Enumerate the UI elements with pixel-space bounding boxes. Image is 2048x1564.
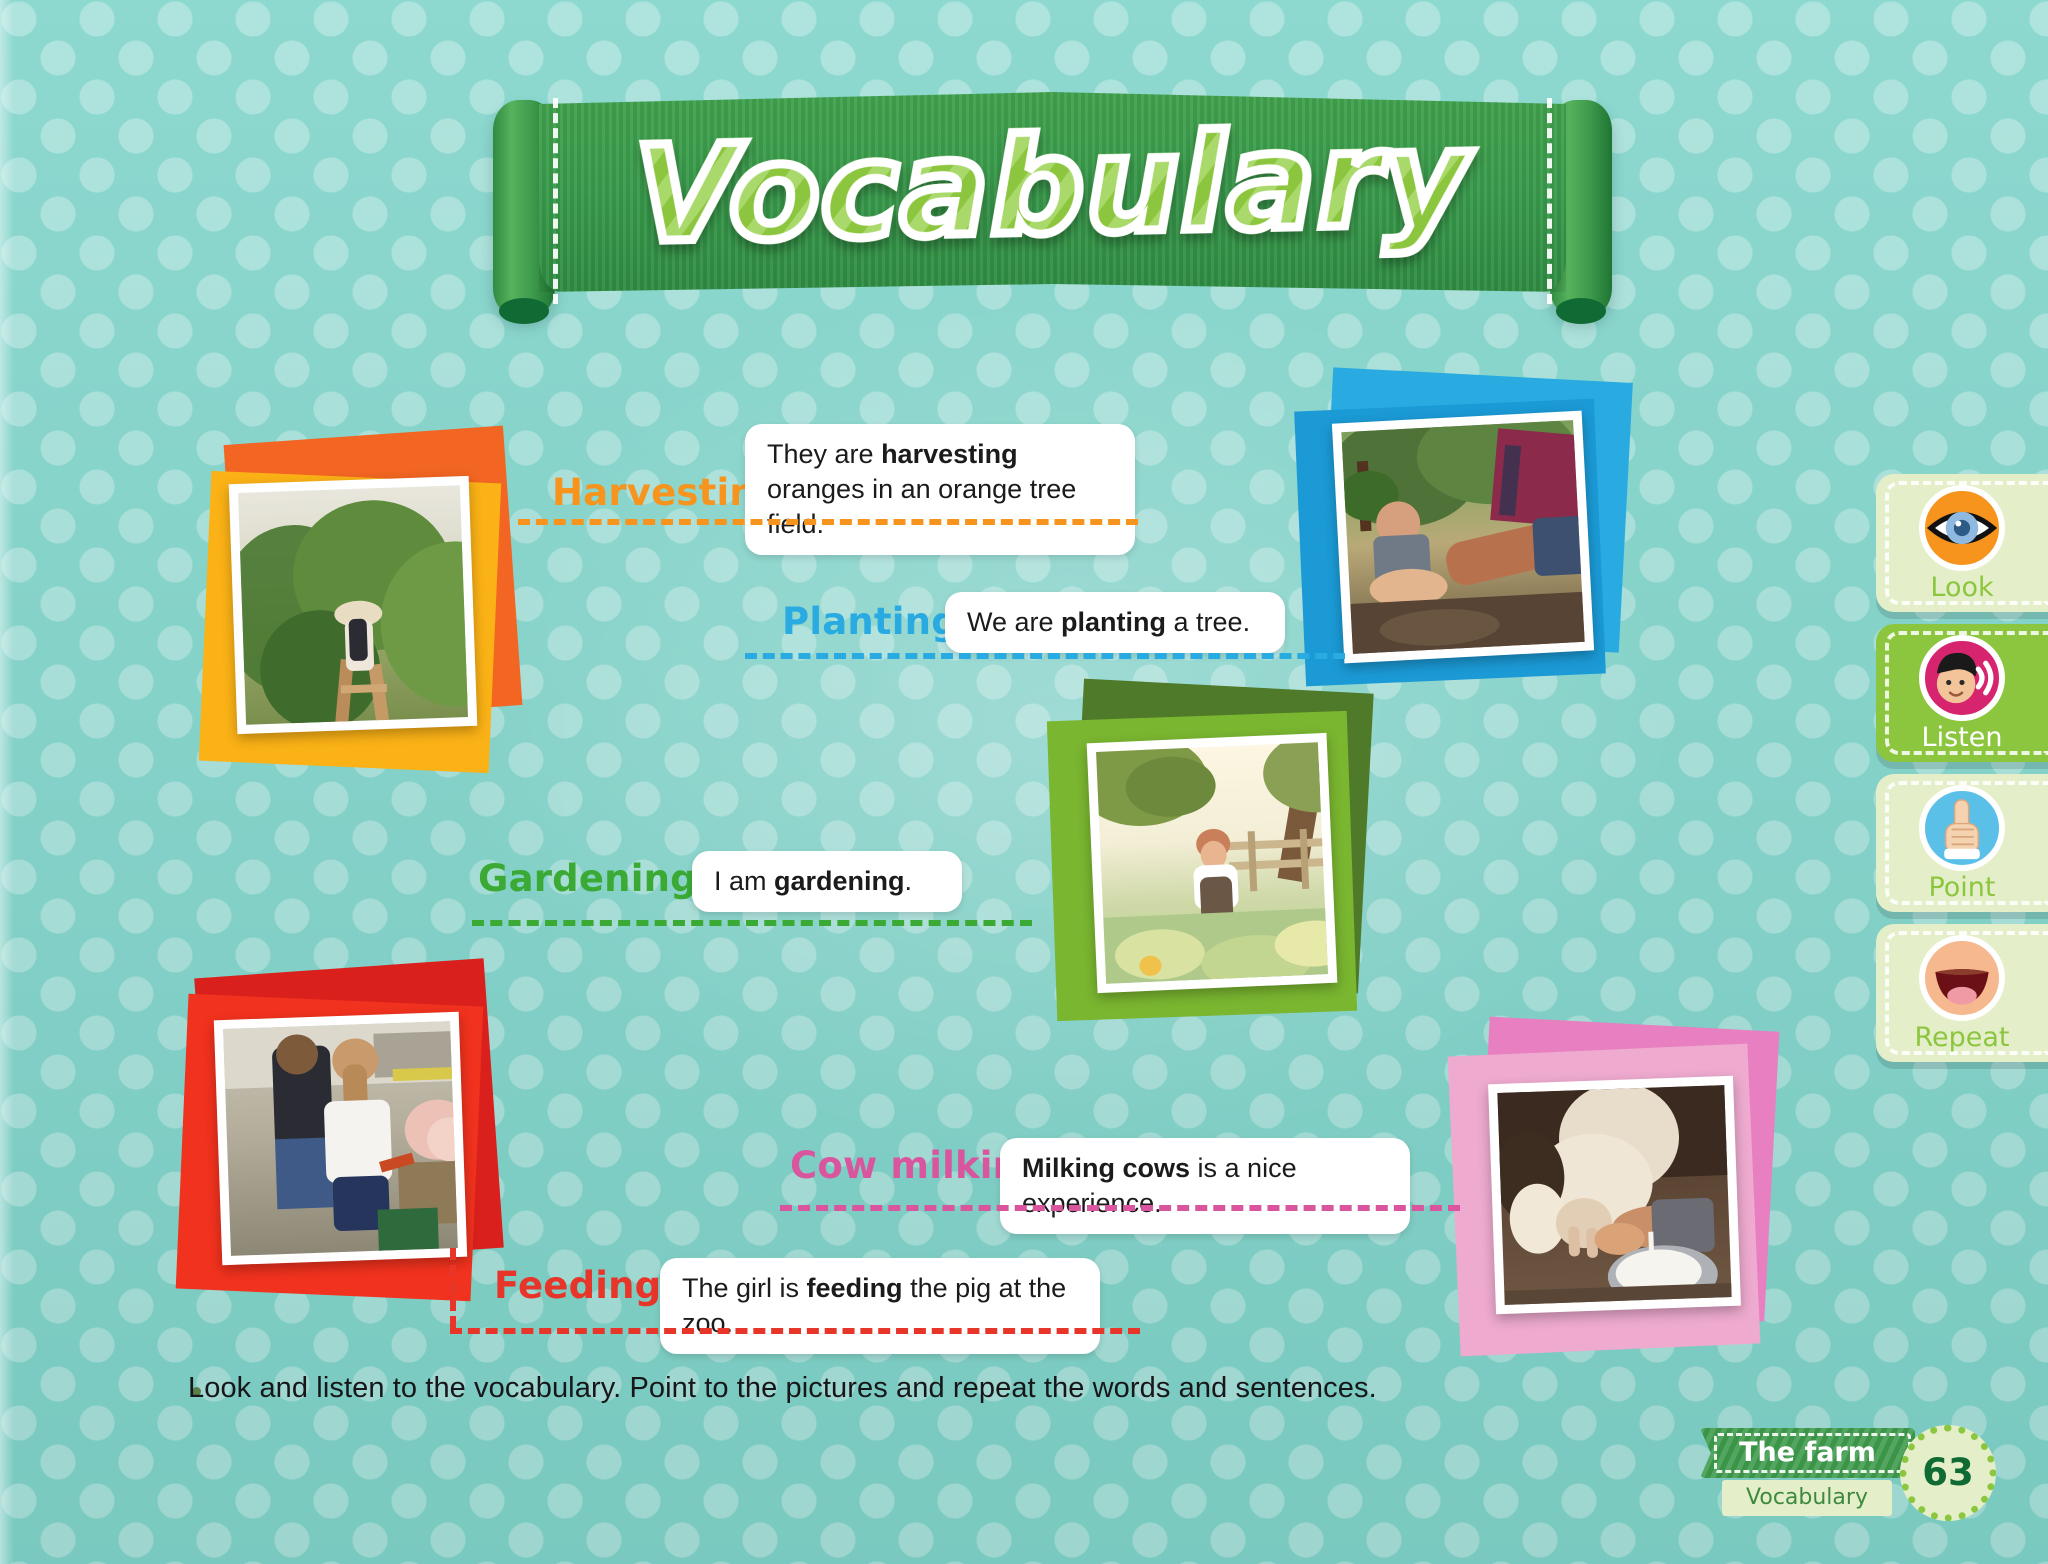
word-label-planting: Planting (782, 600, 958, 643)
sentence-text-post: oranges in an orange tree field. (767, 474, 1076, 539)
sidebar-label-listen: Listen (1876, 722, 2048, 753)
photo-stack-feeding (170, 960, 530, 1320)
connector-line-cow-milking (780, 1205, 1460, 1211)
sentence-text-pre: They are (767, 439, 881, 469)
sentence-bubble-cow-milking: Milking cows is a nice experience. (1000, 1138, 1410, 1234)
footer-section-label: Vocabulary (1722, 1480, 1892, 1516)
sentence-text-pre: I am (714, 866, 774, 896)
photo-stack-gardening (1030, 680, 1400, 1050)
sentence-bubble-harvesting: They are harvesting oranges in an orange… (745, 424, 1135, 555)
sidebar-item-point[interactable]: Point (1876, 774, 2048, 912)
photo-stack-cow-milking (1440, 1020, 1800, 1370)
connector-line-gardening (472, 920, 1032, 926)
connector-line-harvesting (518, 519, 1138, 525)
sentence-text-bold: planting (1061, 607, 1166, 637)
sentence-text-bold: feeding (807, 1273, 903, 1303)
title-banner: Vocabulary (505, 92, 1600, 332)
connector-line-feeding-vertical (450, 1248, 456, 1328)
sentence-text-bold: harvesting (881, 439, 1018, 469)
instruction-text: Look and listen to the vocabulary. Point… (188, 1372, 1377, 1405)
sentence-text-post: . (905, 866, 913, 896)
sentence-bubble-feeding: The girl is feeding the pig at the zoo. (660, 1258, 1100, 1354)
sidebar-item-look[interactable]: Look (1876, 474, 2048, 612)
photo-gardening[interactable] (1087, 733, 1338, 993)
word-label-gardening: Gardening (478, 857, 697, 900)
photo-stack-harvesting (185, 425, 515, 765)
sentence-text-pre: The girl is (682, 1273, 807, 1303)
connector-line-planting (745, 653, 1345, 659)
sentence-text-bold: Milking cows (1022, 1153, 1190, 1183)
mouth-icon (1919, 935, 2005, 1021)
textbook-page: Vocabulary Harvesting They are harvestin… (0, 0, 2048, 1564)
sentence-bubble-gardening: I am gardening. (692, 851, 962, 912)
sidebar-item-repeat[interactable]: Repeat (1876, 924, 2048, 1062)
action-sidebar: Look Listen (1876, 474, 2048, 1074)
photo-stack-planting (1290, 365, 1650, 695)
photo-planting[interactable] (1332, 411, 1594, 664)
sidebar-label-repeat: Repeat (1876, 1022, 2048, 1053)
sidebar-label-look: Look (1876, 572, 2048, 603)
hand-icon (1919, 785, 2005, 871)
sidebar-item-listen[interactable]: Listen (1876, 624, 2048, 762)
page-title: Vocabulary (503, 91, 1601, 284)
photo-harvesting[interactable] (229, 476, 478, 734)
eye-icon (1919, 485, 2005, 571)
sentence-text-post: a tree. (1166, 607, 1250, 637)
connector-line-feeding (450, 1328, 1140, 1334)
word-label-feeding: Feeding (494, 1264, 661, 1307)
sidebar-label-point: Point (1876, 872, 2048, 903)
page-left-edge (0, 0, 14, 1564)
sentence-bubble-planting: We are planting a tree. (945, 592, 1285, 653)
sentence-text-pre: We are (967, 607, 1061, 637)
ear-icon (1919, 635, 2005, 721)
footer-unit-title: The farm (1700, 1437, 1915, 1468)
sentence-text-bold: gardening (774, 866, 905, 896)
footer: The farm Vocabulary 63 (1700, 1428, 1915, 1478)
photo-cow-milking[interactable] (1488, 1076, 1741, 1314)
photo-feeding[interactable] (214, 1012, 467, 1265)
